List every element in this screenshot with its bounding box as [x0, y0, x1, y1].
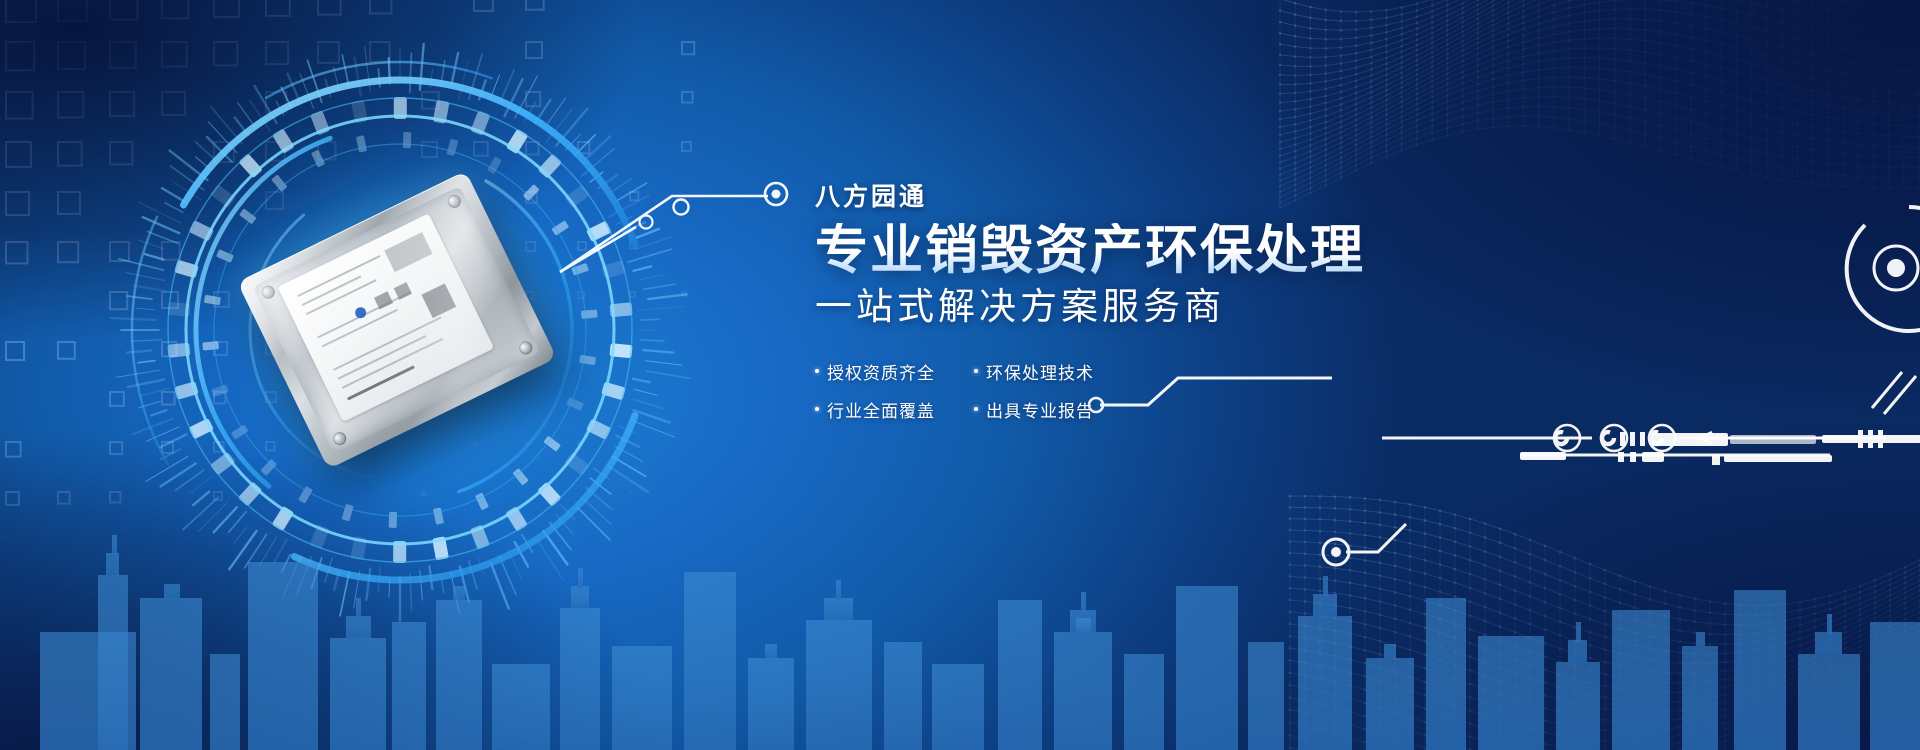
- banner-copy: 八方园通 专业销毁资产环保处理 一站式解决方案服务商 授权资质齐全 环保处理技术…: [815, 182, 1575, 422]
- brand-eyebrow: 八方园通: [815, 182, 1575, 212]
- feature-label: 出具专业报告: [986, 397, 1094, 422]
- bullet-dot-icon: [974, 369, 978, 373]
- hard-disk-drive: [152, 108, 652, 548]
- bullet-dot-icon: [974, 407, 978, 411]
- list-item: 环保处理技术: [974, 359, 1116, 384]
- list-item: 行业全面覆盖: [815, 397, 957, 422]
- bullet-dot-icon: [815, 407, 819, 411]
- feature-list: 授权资质齐全 环保处理技术 行业全面覆盖 出具专业报告: [815, 359, 1575, 422]
- feature-label: 行业全面覆盖: [827, 397, 935, 422]
- list-item: 授权资质齐全: [815, 359, 957, 384]
- feature-label: 环保处理技术: [986, 359, 1094, 384]
- page-subtitle: 一站式解决方案服务商: [815, 285, 1575, 329]
- feature-label: 授权资质齐全: [827, 359, 935, 384]
- page-title: 专业销毁资产环保处理: [815, 223, 1575, 279]
- hdd-chassis: [237, 171, 556, 469]
- bullet-dot-icon: [815, 369, 819, 373]
- list-item: 出具专业报告: [974, 397, 1116, 422]
- promo-banner: 八方园通 专业销毁资产环保处理 一站式解决方案服务商 授权资质齐全 环保处理技术…: [0, 0, 1920, 750]
